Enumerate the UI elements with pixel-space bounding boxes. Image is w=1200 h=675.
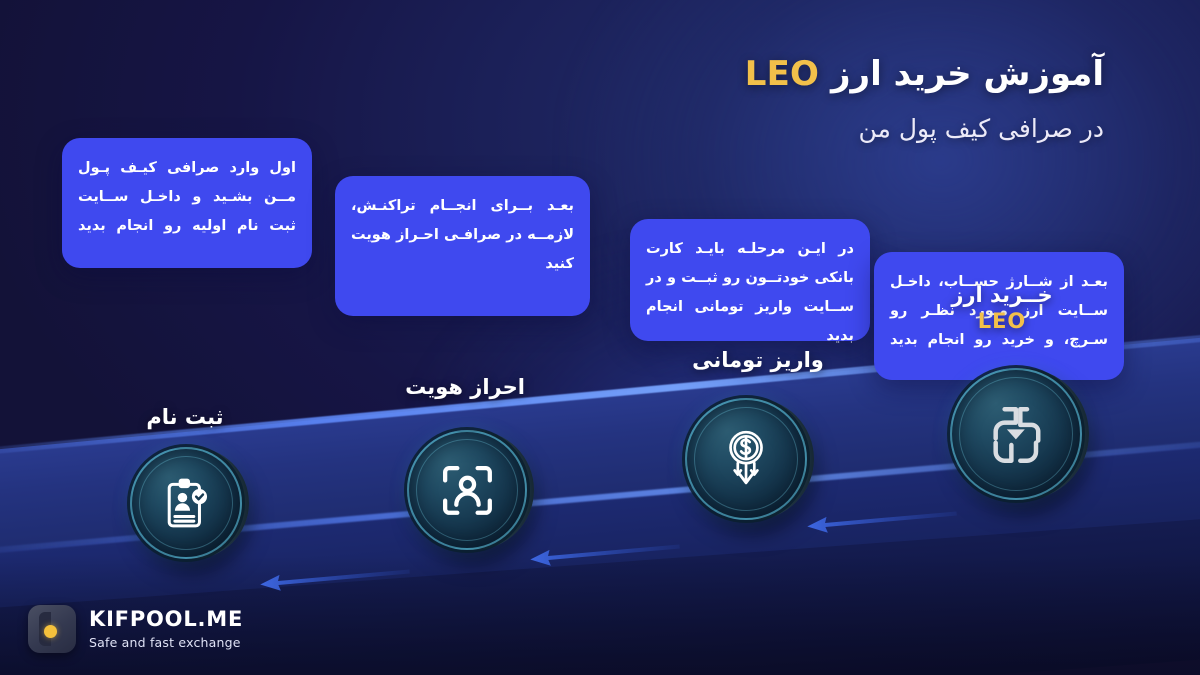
brand-logo[interactable]: KIFPOOL.ME Safe and fast exchange — [28, 605, 243, 653]
step-label-buy-leo-accent: LEO — [912, 309, 1092, 335]
brand-tagline: Safe and fast exchange — [89, 635, 243, 650]
page-title-accent: LEO — [745, 54, 819, 94]
wallet-icon-dot — [44, 625, 57, 638]
brand-name: KIFPOOL.ME — [89, 608, 243, 631]
wallet-icon — [28, 605, 76, 653]
step-label-toman-deposit: واریز تومانی — [668, 348, 848, 374]
coin-face — [950, 368, 1082, 500]
coin-register — [130, 447, 242, 559]
page-title: آموزش خرید ارز LEO — [484, 52, 1104, 98]
coin-face — [130, 447, 242, 559]
coin-toman-deposit — [685, 398, 807, 520]
coin-face — [685, 398, 807, 520]
leo-token-icon — [980, 398, 1052, 470]
page-subtitle: در صرافی کیف پول من — [484, 114, 1104, 143]
coin-face — [407, 430, 527, 550]
callout-card-kyc: بعـد بــرای انجــام تراکنـش، لازمــه در … — [335, 176, 590, 316]
coin-kyc — [407, 430, 527, 550]
page-title-main: آموزش خرید ارز — [831, 54, 1104, 94]
step-label-buy-leo-text: خــرید ارز — [951, 283, 1052, 307]
step-label-buy-leo: خــرید ارز LEO — [912, 283, 1092, 334]
face-scan-icon — [435, 458, 500, 523]
step-label-kyc: احراز هویت — [375, 375, 555, 401]
step-label-register-text: ثبت نام — [146, 405, 223, 429]
coin-buy-leo — [950, 368, 1082, 500]
callout-card-toman-deposit: در ایـن مرحلـه بایـد کارت بانکی خودتــون… — [630, 219, 870, 341]
header: آموزش خرید ارز LEO در صرافی کیف پول من — [484, 52, 1104, 143]
id-card-person-check-icon — [156, 473, 216, 533]
infographic-canvas: آموزش خرید ارز LEO در صرافی کیف پول من ا… — [0, 0, 1200, 675]
callout-card-register: اول وارد صرافی کیـف پـول مــن بشـید و دا… — [62, 138, 312, 268]
step-label-toman-deposit-text: واریز تومانی — [692, 348, 824, 372]
brand-logo-text: KIFPOOL.ME Safe and fast exchange — [89, 608, 243, 649]
step-label-kyc-text: احراز هویت — [405, 375, 525, 399]
step-label-register: ثبت نام — [95, 405, 275, 431]
dollar-coin-down-arrow-icon — [713, 426, 779, 492]
